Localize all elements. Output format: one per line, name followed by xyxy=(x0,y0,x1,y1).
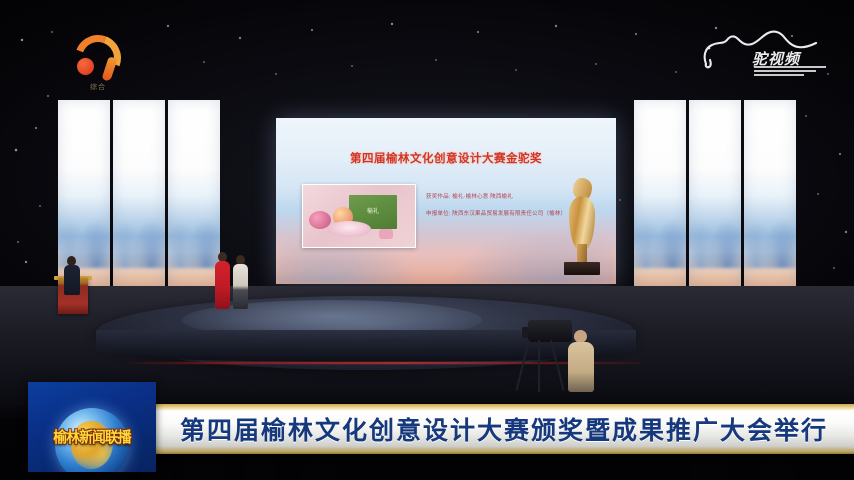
lower-third: 第四届榆林文化创意设计大赛颁奖暨成果推广大会举行 榆林新闻联播 xyxy=(0,404,854,454)
product-plate xyxy=(327,221,371,237)
person-body xyxy=(64,265,80,295)
broadcast-video-frame: 第四届榆林文化创意设计大赛金驼奖 榆礼 获奖作品: 榆礼·榆林心意 陕西榆礼 申… xyxy=(0,0,854,480)
person-body xyxy=(233,264,248,309)
trophy-cup xyxy=(569,196,595,250)
watermark: 驼视频 xyxy=(700,24,830,80)
channel-logo-subtitle: 综合 xyxy=(66,82,130,92)
person-body xyxy=(215,261,230,309)
channel-logo: 综合 xyxy=(66,26,130,90)
main-stage-screen: 第四届榆林文化创意设计大赛金驼奖 榆礼 获奖作品: 榆礼·榆林心意 陕西榆礼 申… xyxy=(276,118,616,284)
golden-camel-trophy-icon xyxy=(560,174,604,284)
led-panel-bank-right xyxy=(634,100,796,300)
speaker-at-podium xyxy=(63,256,81,300)
product-small-item xyxy=(379,229,393,239)
tripod-leg xyxy=(550,340,565,391)
host-in-red-gown xyxy=(215,252,231,310)
trophy-stem xyxy=(577,244,587,264)
trophy-base xyxy=(564,262,600,275)
tripod-leg xyxy=(538,340,540,392)
camera-operator xyxy=(568,330,594,392)
led-panel xyxy=(113,100,165,300)
led-panel xyxy=(634,100,686,300)
led-panel xyxy=(168,100,220,300)
headline-text: 第四届榆林文化创意设计大赛颁奖暨成果推广大会举行 xyxy=(180,411,828,447)
program-logo-text: 榆林新闻联播 xyxy=(33,426,151,447)
watermark-speed-lines-icon xyxy=(754,66,826,78)
screen-award-title: 第四届榆林文化创意设计大赛金驼奖 xyxy=(276,150,616,166)
program-logo: 榆林新闻联播 xyxy=(28,382,156,472)
product-box-label: 榆礼 xyxy=(349,206,397,215)
swoosh-logo-icon xyxy=(66,26,130,90)
led-panel xyxy=(744,100,796,300)
banner-shadow xyxy=(156,454,854,468)
headline-banner: 第四届榆林文化创意设计大赛颁奖暨成果推广大会举行 xyxy=(156,404,854,454)
person-body xyxy=(568,342,594,392)
led-panel-bank-left xyxy=(58,100,220,300)
camera-body xyxy=(528,320,572,342)
host-second xyxy=(233,255,249,310)
led-panel xyxy=(689,100,741,300)
winning-product-photo: 榆礼 xyxy=(302,184,416,248)
